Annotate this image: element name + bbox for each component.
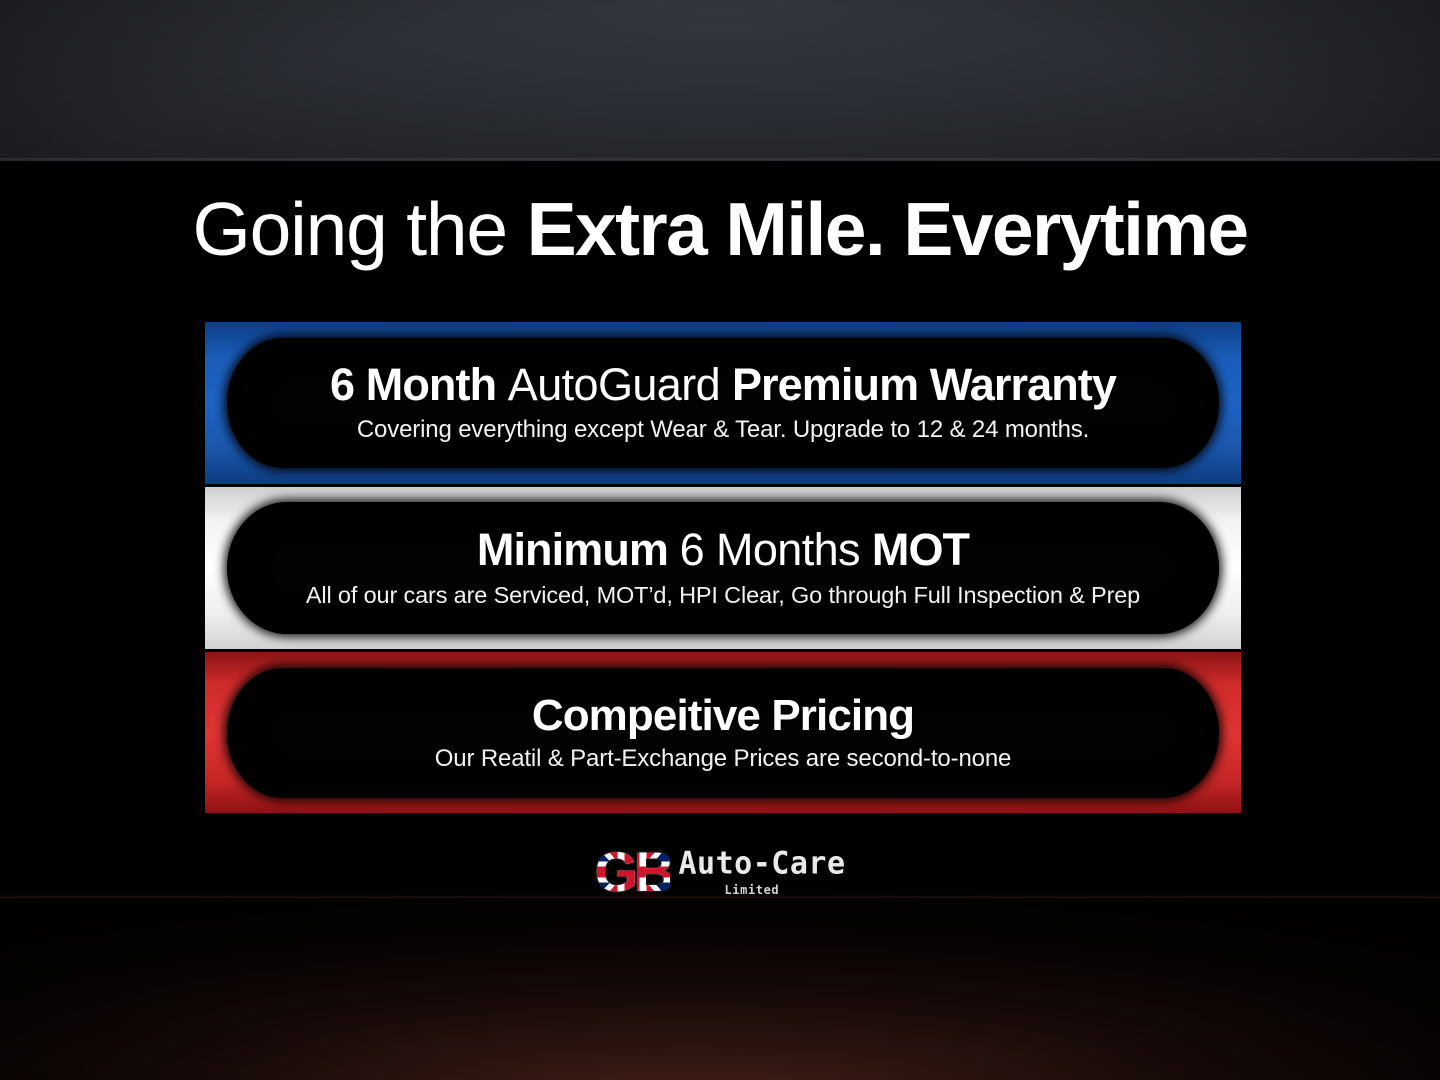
headline-bold-text: Extra Mile. Everytime <box>527 187 1248 271</box>
feature-title-part-3: Premium Warranty <box>732 359 1116 410</box>
feature-title-part-1: Compeitive Pricing <box>532 691 914 740</box>
top-glow <box>0 0 1440 161</box>
logo-company-suffix: Limited <box>724 884 779 896</box>
feature-title: Compeitive Pricing <box>532 693 914 739</box>
feature-subtitle: Our Reatil & Part-Exchange Prices are se… <box>435 745 1012 773</box>
union-jack-flag-icon: GB <box>594 844 670 900</box>
feature-panel: 6 Month AutoGuard Premium Warranty Cover… <box>227 338 1219 468</box>
feature-title: Minimum 6 Months MOT <box>477 527 969 574</box>
feature-band-warranty: 6 Month AutoGuard Premium Warranty Cover… <box>205 322 1241 484</box>
page-title: Going the Extra Mile. Everytime <box>0 192 1440 267</box>
feature-title-part-3: MOT <box>872 524 969 575</box>
feature-title-part-2: 6 Months <box>680 524 872 575</box>
feature-title-part-2: AutoGuard <box>508 359 732 410</box>
feature-title-part-1: Minimum <box>477 524 680 575</box>
top-glow-edge <box>0 158 1440 162</box>
bottom-glow <box>0 895 1440 1080</box>
feature-title-part-1: 6 Month <box>330 359 508 410</box>
logo-company-name: Auto-Care <box>678 848 845 880</box>
feature-panel: Compeitive Pricing Our Reatil & Part-Exc… <box>227 668 1219 798</box>
feature-band-pricing: Compeitive Pricing Our Reatil & Part-Exc… <box>205 652 1241 813</box>
feature-band-mot: Minimum 6 Months MOT All of our cars are… <box>205 487 1241 649</box>
feature-panel: Minimum 6 Months MOT All of our cars are… <box>227 502 1219 634</box>
logo-wordmark: Auto-Care Limited <box>678 849 845 896</box>
headline-light-text: Going the <box>192 187 526 271</box>
feature-subtitle: All of our cars are Serviced, MOT’d, HPI… <box>306 582 1140 609</box>
feature-subtitle: Covering everything except Wear & Tear. … <box>357 416 1089 444</box>
company-logo: GB Auto-Care Limited <box>0 844 1440 900</box>
feature-title: 6 Month AutoGuard Premium Warranty <box>330 362 1116 409</box>
